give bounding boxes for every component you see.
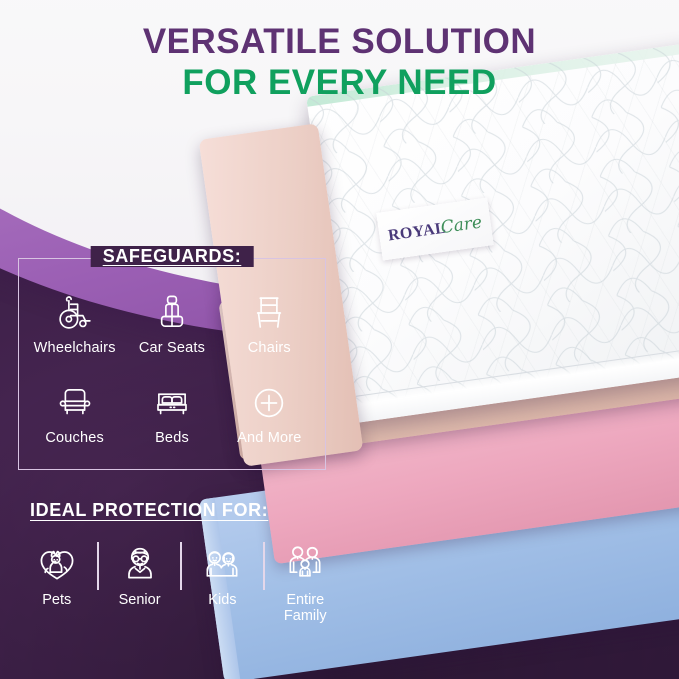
ideal-item-senior: Senior	[99, 540, 180, 608]
product-infographic-poster: VERSATILE SOLUTION FOR EVERY NEED	[0, 0, 679, 679]
safeguards-item-car-seats: Car Seats	[124, 279, 219, 367]
safeguards-item-and-more: And More	[222, 369, 317, 457]
kids-icon	[199, 540, 245, 586]
pets-icon	[34, 540, 80, 586]
ideal-protection-title: IDEAL PROTECTION FOR:	[30, 500, 268, 521]
couch-icon	[53, 381, 97, 425]
safeguards-label: And More	[237, 430, 301, 446]
plus-circle-icon	[247, 381, 291, 425]
ideal-item-entire-family: Entire Family	[265, 540, 346, 624]
safeguards-label: Wheelchairs	[34, 340, 116, 356]
safeguards-item-wheelchairs: Wheelchairs	[27, 279, 122, 367]
product-layer-white-quilted	[306, 38, 679, 423]
family-icon	[282, 540, 328, 586]
safeguards-item-chairs: Chairs	[222, 279, 317, 367]
safeguards-grid: Wheelchairs Car Seats	[19, 259, 325, 469]
ideal-item-kids: Kids	[182, 540, 263, 608]
safeguards-panel: SAFEGUARDS: Wheelchai	[18, 258, 326, 470]
brand-name-primary: ROYAL	[387, 220, 447, 246]
chair-icon	[247, 291, 291, 335]
ideal-item-label: Kids	[208, 592, 236, 608]
safeguards-label: Beds	[155, 430, 189, 446]
ideal-item-label: Senior	[119, 592, 161, 608]
senior-icon	[117, 540, 163, 586]
ideal-protection-row: Pets Senior	[16, 540, 346, 650]
safeguards-item-couches: Couches	[27, 369, 122, 457]
brand-name-secondary: Care	[440, 213, 484, 239]
car-seat-icon	[150, 291, 194, 335]
ideal-item-label: Pets	[42, 592, 71, 608]
safeguards-label: Couches	[45, 430, 104, 446]
brand-wordmark: ROYAL Care	[387, 213, 484, 246]
safeguards-label: Chairs	[248, 340, 291, 356]
safeguards-label: Car Seats	[139, 340, 205, 356]
safeguards-item-beds: Beds	[124, 369, 219, 457]
bed-icon	[150, 381, 194, 425]
ideal-item-pets: Pets	[16, 540, 97, 608]
wheelchair-icon	[53, 291, 97, 335]
ideal-item-label: Entire Family	[265, 592, 346, 624]
